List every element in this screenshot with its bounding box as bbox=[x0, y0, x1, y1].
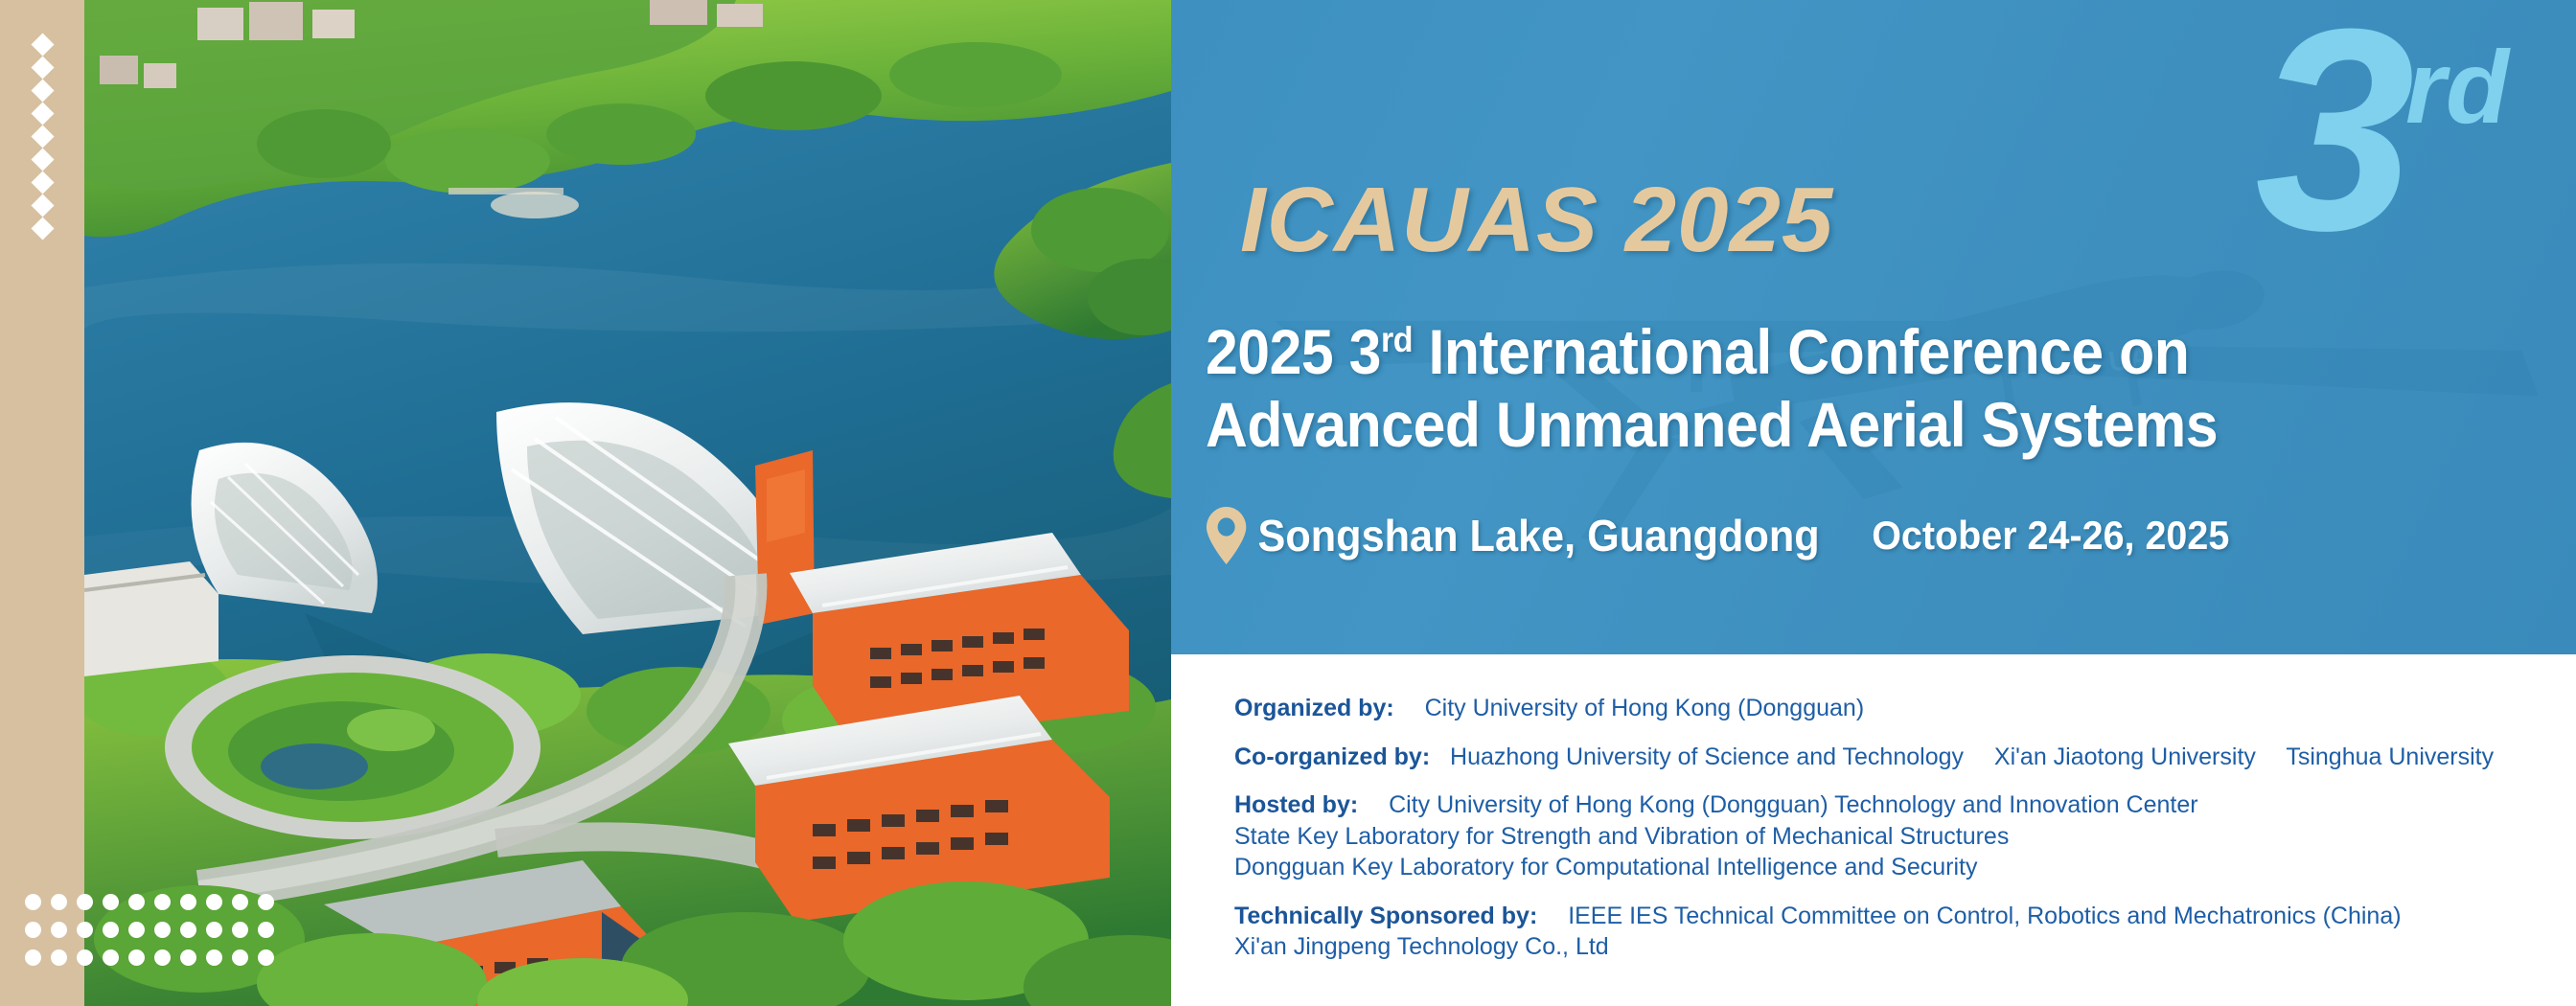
aerial-landscape-illustration bbox=[84, 0, 1171, 1006]
dot-icon bbox=[25, 949, 41, 966]
diamond-icon bbox=[31, 217, 54, 240]
dot-icon bbox=[128, 894, 145, 910]
diamond-icon bbox=[31, 125, 54, 148]
conference-title-line-1: 2025 3rd International Conference on bbox=[1206, 316, 2457, 389]
diamond-decoration-column bbox=[21, 36, 63, 243]
credits-footer: Organized by: City University of Hong Ko… bbox=[1171, 654, 2576, 1006]
dot-icon bbox=[206, 949, 222, 966]
dot-icon bbox=[103, 949, 119, 966]
dot-icon bbox=[180, 949, 196, 966]
title-line-1-rest: International Conference on bbox=[1413, 316, 2189, 387]
map-pin-icon bbox=[1206, 506, 1247, 565]
venue-date-row: Songshan Lake, Guangdong October 24-26, … bbox=[1206, 506, 2229, 565]
diamond-icon bbox=[31, 102, 54, 125]
dot-icon bbox=[51, 949, 67, 966]
title-ordinal-suffix: rd bbox=[1381, 320, 1413, 359]
venue-label: Songshan Lake, Guangdong bbox=[1258, 510, 1820, 561]
dot-icon bbox=[103, 894, 119, 910]
diamond-icon bbox=[31, 56, 54, 79]
hosted-line-2: State Key Laboratory for Strength and Vi… bbox=[1234, 821, 2576, 853]
dot-icon bbox=[232, 949, 248, 966]
dot-icon bbox=[154, 922, 171, 938]
ordinal-number: 3 bbox=[2255, 8, 2405, 252]
hosted-block: Hosted by: City University of Hong Kong … bbox=[1234, 789, 2576, 883]
dot-icon bbox=[128, 949, 145, 966]
organized-label: Organized by: bbox=[1234, 695, 1394, 721]
dot-icon bbox=[232, 894, 248, 910]
dot-icon bbox=[51, 922, 67, 938]
dot-icon bbox=[258, 894, 274, 910]
organized-block: Organized by: City University of Hong Ko… bbox=[1234, 693, 2576, 724]
hosted-label: Hosted by: bbox=[1234, 791, 1358, 818]
sponsored-value-1: IEEE IES Technical Committee on Control,… bbox=[1568, 903, 2401, 929]
dot-icon bbox=[128, 922, 145, 938]
dot-icon bbox=[25, 922, 41, 938]
dot-icon bbox=[25, 894, 41, 910]
hosted-value-1: City University of Hong Kong (Dongguan) … bbox=[1389, 791, 2197, 818]
ordinal-suffix: rd bbox=[2405, 27, 2509, 147]
sponsored-line-2: Xi'an Jingpeng Technology Co., Ltd bbox=[1234, 931, 2576, 963]
coorganized-item-2: Xi'an Jiaotong University bbox=[1994, 743, 2256, 770]
dot-icon bbox=[77, 894, 93, 910]
diamond-icon bbox=[31, 171, 54, 194]
conference-banner: UAV 3 rd ICAUAS 2025 2025 3rd Internatio… bbox=[0, 0, 2576, 1006]
sponsored-label: Technically Sponsored by: bbox=[1234, 903, 1537, 929]
dates-label: October 24-26, 2025 bbox=[1872, 513, 2229, 559]
coorganized-item-3: Tsinghua University bbox=[2286, 743, 2494, 770]
sponsored-line-1: Technically Sponsored by: IEEE IES Techn… bbox=[1234, 901, 2576, 932]
dot-grid-decoration bbox=[25, 894, 274, 966]
dot-icon bbox=[206, 922, 222, 938]
coorganized-label: Co-organized by: bbox=[1234, 743, 1430, 770]
diamond-icon bbox=[31, 148, 54, 171]
organized-line: Organized by: City University of Hong Ko… bbox=[1234, 693, 2576, 724]
diamond-icon bbox=[31, 79, 54, 102]
conference-title: 2025 3rd International Conference on Adv… bbox=[1206, 316, 2457, 462]
venue-photo bbox=[84, 0, 1171, 1006]
sponsored-block: Technically Sponsored by: IEEE IES Techn… bbox=[1234, 901, 2576, 963]
dot-icon bbox=[232, 922, 248, 938]
diamond-icon bbox=[31, 33, 54, 56]
organized-value: City University of Hong Kong (Dongguan) bbox=[1425, 695, 1865, 721]
coorganized-item-1: Huazhong University of Science and Techn… bbox=[1450, 743, 1964, 770]
hosted-line-3: Dongguan Key Laboratory for Computationa… bbox=[1234, 852, 2576, 883]
dot-icon bbox=[258, 922, 274, 938]
dot-icon bbox=[154, 894, 171, 910]
coorganized-line: Co-organized by: Huazhong University of … bbox=[1234, 742, 2576, 773]
dot-icon bbox=[206, 894, 222, 910]
dot-icon bbox=[180, 922, 196, 938]
dot-icon bbox=[77, 922, 93, 938]
coorganized-block: Co-organized by: Huazhong University of … bbox=[1234, 742, 2576, 773]
dot-icon bbox=[258, 949, 274, 966]
hosted-line-1: Hosted by: City University of Hong Kong … bbox=[1234, 789, 2576, 821]
dot-icon bbox=[77, 949, 93, 966]
hero-panel: UAV 3 rd ICAUAS 2025 2025 3rd Internatio… bbox=[1171, 0, 2576, 654]
diamond-icon bbox=[31, 194, 54, 217]
conference-acronym: ICAUAS 2025 bbox=[1240, 168, 1833, 273]
title-year-ordinal: 2025 3 bbox=[1206, 316, 1381, 387]
dot-icon bbox=[180, 894, 196, 910]
dot-icon bbox=[154, 949, 171, 966]
dot-icon bbox=[51, 894, 67, 910]
conference-title-line-2: Advanced Unmanned Aerial Systems bbox=[1206, 389, 2457, 462]
dot-icon bbox=[103, 922, 119, 938]
